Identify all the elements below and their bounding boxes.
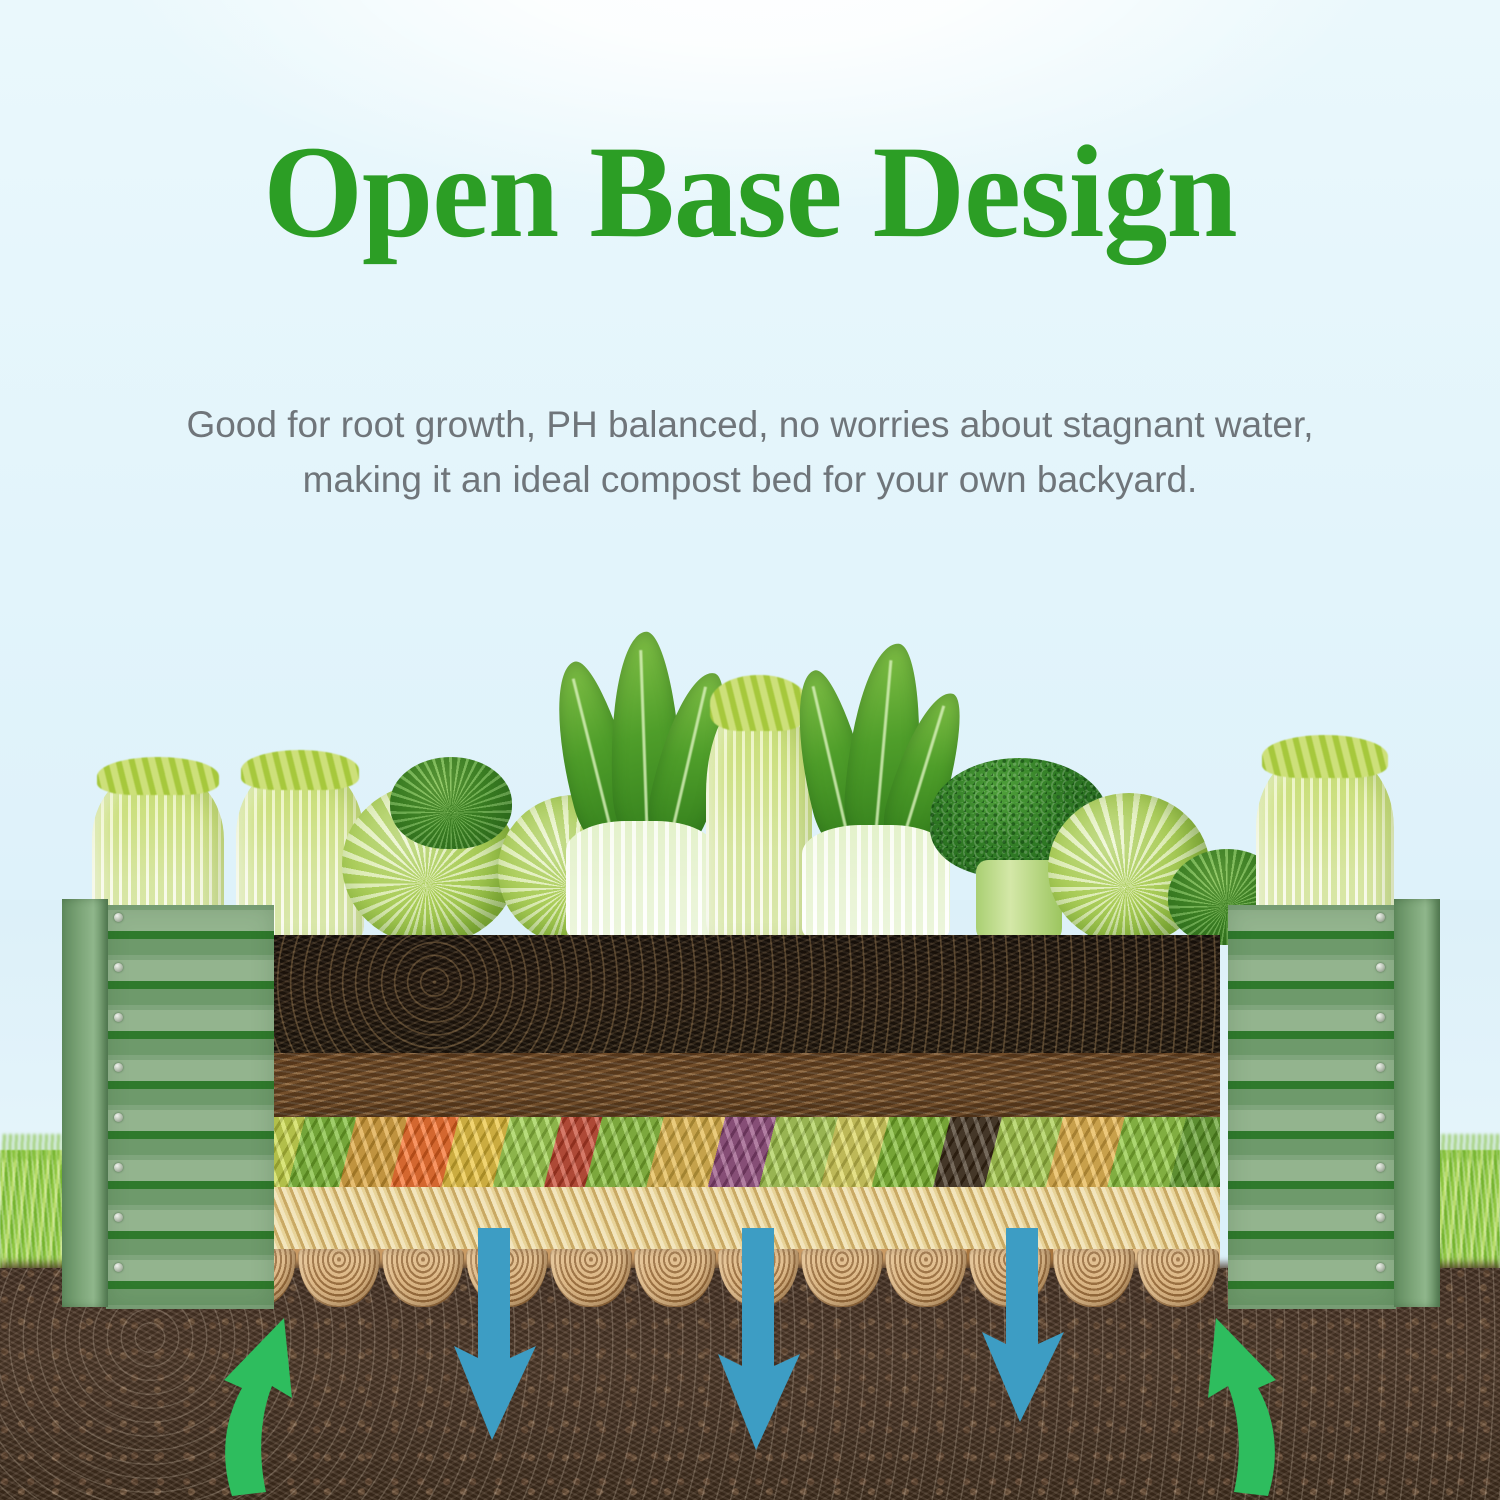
panel-screw xyxy=(114,1063,123,1072)
panel-screw xyxy=(1376,1113,1385,1122)
flow-indicator-group xyxy=(0,1240,1500,1500)
panel-screw xyxy=(114,1113,123,1122)
layer-food-scraps xyxy=(213,1117,1220,1187)
panel-screw xyxy=(1376,1013,1385,1022)
panel-screw xyxy=(1376,1063,1385,1072)
page-title: Open Base Design xyxy=(23,126,1478,258)
vegetable-row xyxy=(0,615,1500,945)
panel-screw xyxy=(114,1213,123,1222)
vegetable-napa-cabbage xyxy=(706,693,812,945)
panel-screw xyxy=(1376,913,1385,922)
air-intake-arrow-left xyxy=(180,1260,360,1500)
panel-screw xyxy=(114,913,123,922)
drainage-arrow-2 xyxy=(702,1228,812,1456)
drainage-arrow-1 xyxy=(440,1228,550,1446)
panel-screw xyxy=(1376,1213,1385,1222)
infographic-canvas: Open Base Design Good for root growth, P… xyxy=(0,0,1500,1500)
vegetable-bok-choy xyxy=(802,659,950,945)
vegetable-bok-choy xyxy=(566,649,716,945)
compost-cross-section xyxy=(213,935,1220,1268)
air-intake-arrow-right xyxy=(1140,1260,1320,1500)
panel-screw xyxy=(114,1163,123,1172)
bok-choy-stem xyxy=(566,821,716,945)
page-subtitle: Good for root growth, PH balanced, no wo… xyxy=(70,398,1430,508)
subtitle-line-2: making it an ideal compost bed for your … xyxy=(303,459,1198,500)
layer-topsoil xyxy=(213,935,1220,1053)
vegetable-savoy-cabbage xyxy=(390,757,512,849)
bok-choy-stem xyxy=(802,825,950,945)
subtitle-line-1: Good for root growth, PH balanced, no wo… xyxy=(186,404,1313,445)
panel-screw xyxy=(1376,1163,1385,1172)
panel-screw xyxy=(114,963,123,972)
drainage-arrow-3 xyxy=(968,1228,1078,1428)
panel-screw xyxy=(114,1013,123,1022)
panel-screw xyxy=(1376,963,1385,972)
layer-mulch xyxy=(213,1053,1220,1117)
